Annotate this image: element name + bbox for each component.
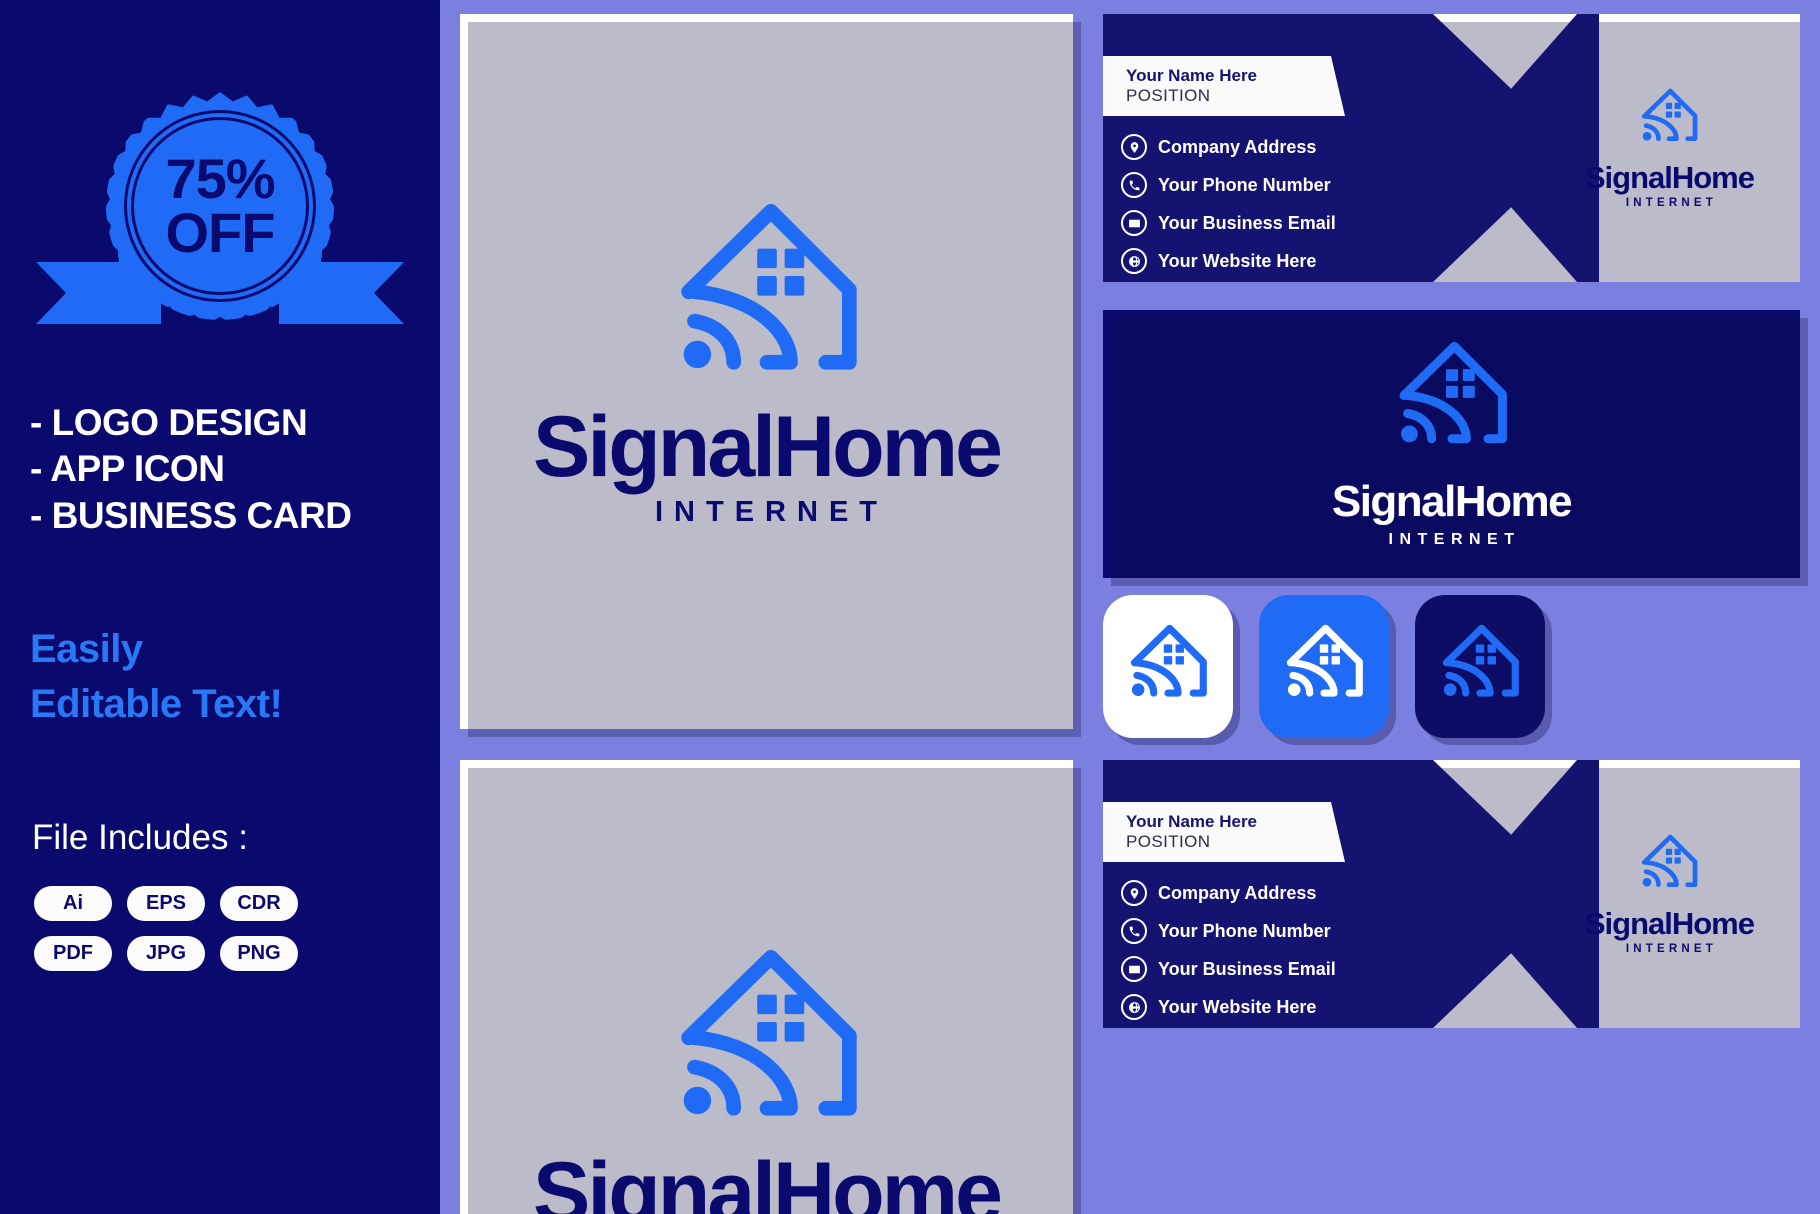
logo-subtitle: INTERNET (645, 496, 888, 529)
globe-icon (1121, 248, 1147, 274)
business-card-logo-word: SignalHome (1585, 162, 1754, 193)
contact-label-address-2: Company Address (1158, 883, 1316, 904)
badge-percent: 75% (165, 152, 274, 206)
contact-label-email-2: Your Business Email (1158, 959, 1336, 980)
file-format-pill-png: PNG (220, 936, 298, 971)
contact-row-address: Company Address (1121, 134, 1441, 160)
business-card-bottom: Your Name Here POSITION Company Address … (1103, 760, 1800, 1028)
app-icon-light[interactable] (1103, 595, 1233, 738)
business-card-logo: SignalHome INTERNET (1585, 87, 1754, 209)
globe-icon-2 (1121, 994, 1147, 1020)
contact-row-phone-2: Your Phone Number (1121, 918, 1441, 944)
feature-list: - LOGO DESIGN - APP ICON - BUSINESS CARD (30, 400, 430, 539)
business-card-logo-word-2: SignalHome (1585, 908, 1754, 939)
logo-wordmark: SignalHome (533, 404, 1000, 490)
business-card-position: POSITION (1126, 86, 1345, 106)
contact-label-email: Your Business Email (1158, 213, 1336, 234)
file-format-pill-ai: Ai (34, 886, 112, 921)
file-format-pill-jpg: JPG (127, 936, 205, 971)
app-icon-row (1103, 595, 1545, 738)
business-card-logo-sub: INTERNET (1622, 197, 1717, 209)
dark-card-wordmark: SignalHome (1332, 480, 1571, 524)
house-wifi-logo-icon-bc2 (1638, 833, 1700, 898)
contact-row-phone: Your Phone Number (1121, 172, 1441, 198)
house-wifi-logo-icon-app2 (1282, 623, 1366, 711)
badge-text: 75% OFF (106, 92, 334, 320)
house-wifi-logo-icon (669, 199, 865, 404)
business-card-name-ribbon-2: Your Name Here POSITION (1103, 802, 1345, 862)
business-card-name-2: Your Name Here (1126, 812, 1345, 832)
location-pin-icon-2 (1121, 880, 1147, 906)
contact-label-phone-2: Your Phone Number (1158, 921, 1331, 942)
editable-line-1: Easily (30, 622, 430, 677)
feature-item-app-icon: - APP ICON (30, 446, 430, 492)
location-pin-icon (1121, 134, 1147, 160)
wifi-dot (683, 341, 710, 368)
app-icon-blue[interactable] (1259, 595, 1389, 738)
contact-label-website: Your Website Here (1158, 251, 1316, 272)
phone-icon-2 (1121, 918, 1147, 944)
contact-row-email: Your Business Email (1121, 210, 1441, 236)
contact-row-email-2: Your Business Email (1121, 956, 1441, 982)
business-card-chevron-stripe (1459, 14, 1599, 282)
envelope-icon-2 (1121, 956, 1147, 982)
file-includes-label: File Includes : (32, 818, 248, 858)
file-format-pill-pdf: PDF (34, 936, 112, 971)
contact-label-website-2: Your Website Here (1158, 997, 1316, 1018)
envelope-icon (1121, 210, 1147, 236)
business-card-name: Your Name Here (1126, 66, 1345, 86)
logo-wordmark-2: SignalHome (533, 1150, 1000, 1214)
feature-item-logo-design: - LOGO DESIGN (30, 400, 430, 446)
logo-lockup-2: SignalHome INTERNET (460, 945, 1073, 1214)
business-card-top: Your Name Here POSITION Company Address … (1103, 14, 1800, 282)
app-icon-navy[interactable] (1415, 595, 1545, 738)
badge-seal-icon: 75% OFF (106, 92, 334, 320)
logo-lockup: SignalHome INTERNET (460, 199, 1073, 529)
contact-label-phone: Your Phone Number (1158, 175, 1331, 196)
feature-item-business-card: - BUSINESS CARD (30, 493, 430, 539)
presentation-stage: SignalHome INTERNET SignalHome (440, 0, 1820, 1214)
secondary-logo-card: SignalHome INTERNET (460, 760, 1073, 1214)
editable-text-callout: Easily Editable Text! (30, 622, 430, 732)
primary-logo-card: SignalHome INTERNET (460, 14, 1073, 729)
contact-row-address-2: Company Address (1121, 880, 1441, 906)
business-card-logo-sub-2: INTERNET (1622, 943, 1717, 955)
contact-row-website-2: Your Website Here (1121, 994, 1441, 1020)
contact-row-website: Your Website Here (1121, 248, 1441, 274)
house-wifi-logo-icon-2 (669, 945, 865, 1150)
house-wifi-logo-icon-app1 (1126, 623, 1210, 711)
business-card-position-2: POSITION (1126, 832, 1345, 852)
badge-off: OFF (166, 206, 275, 260)
house-wifi-logo-icon-dark (1392, 339, 1512, 464)
business-card-logo-2: SignalHome INTERNET (1585, 833, 1754, 955)
house-wifi-logo-icon-app3 (1438, 623, 1522, 711)
editable-line-2: Editable Text! (30, 677, 430, 732)
dark-logo-card: SignalHome INTERNET (1103, 310, 1800, 578)
discount-badge: 75% OFF (0, 70, 440, 340)
file-format-pill-eps: EPS (127, 886, 205, 921)
business-card-chevron-stripe-2 (1459, 760, 1599, 1028)
house-wifi-logo-icon-bc1 (1638, 87, 1700, 152)
business-card-contact-list-2: Company Address Your Phone Number Your B… (1121, 880, 1441, 1028)
contact-label-address: Company Address (1158, 137, 1316, 158)
business-card-contact-list: Company Address Your Phone Number Your B… (1121, 134, 1441, 282)
file-format-pill-cdr: CDR (220, 886, 298, 921)
dark-card-subtitle: INTERNET (1383, 531, 1521, 549)
promo-sidebar: 75% OFF - LOGO DESIGN - APP ICON - BUSIN… (0, 0, 440, 1214)
window-grid (757, 249, 804, 296)
phone-icon (1121, 172, 1147, 198)
file-format-list: Ai EPS CDR PDF JPG PNG (34, 886, 334, 971)
business-card-name-ribbon: Your Name Here POSITION (1103, 56, 1345, 116)
